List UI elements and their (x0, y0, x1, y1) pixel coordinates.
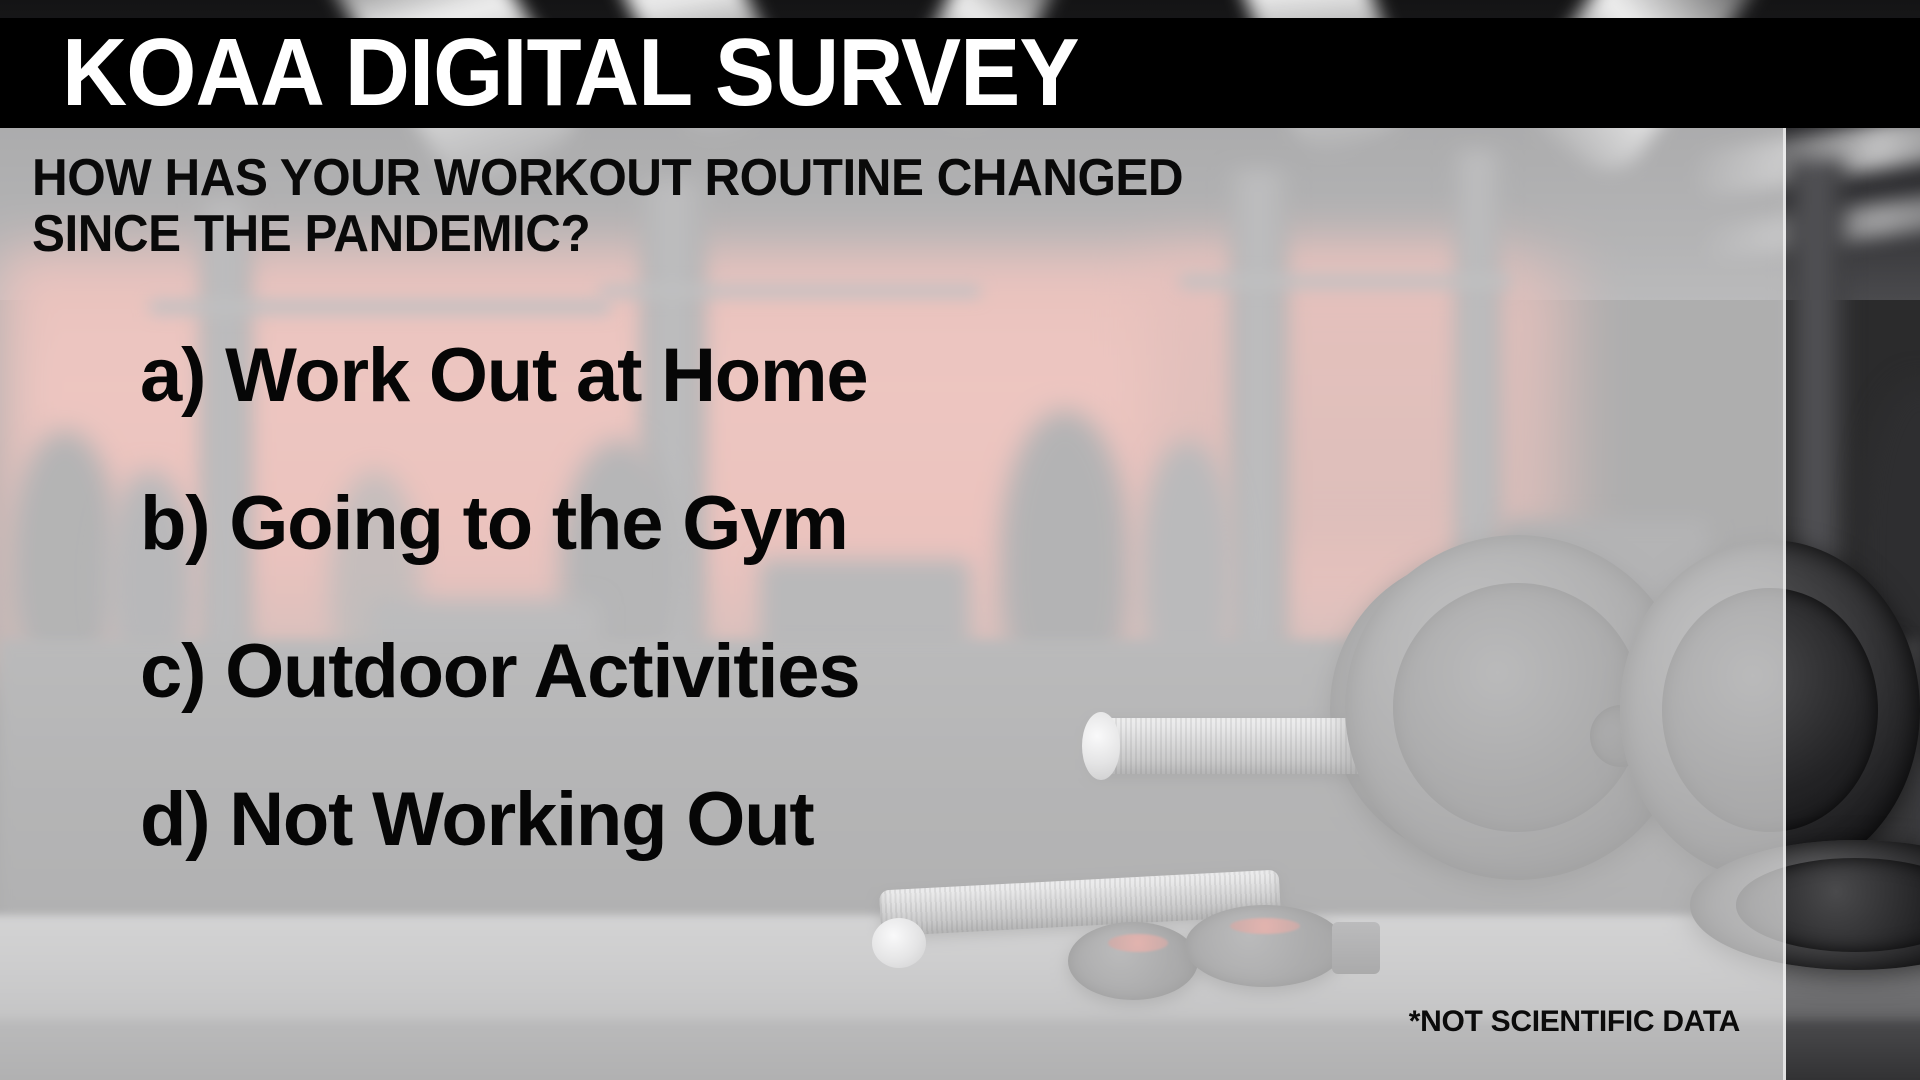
disclaimer-note: *NOT SCIENTIFIC DATA (1409, 1005, 1740, 1039)
answer-option-b[interactable]: b) Going to the Gym (140, 486, 1440, 562)
question-line-1: HOW HAS YOUR WORKOUT ROUTINE CHANGED (32, 150, 1438, 206)
second-bar-end-cap (872, 918, 926, 968)
rack-crossbar (150, 300, 610, 314)
rack-crossbar (600, 285, 980, 297)
page-title: KOAA DIGITAL SURVEY (62, 27, 1079, 119)
weight-plate-far-right (1620, 540, 1920, 880)
overlay-right-edge (1783, 128, 1786, 1080)
red-plate-accent (1108, 934, 1168, 952)
rack-crossbar (1180, 275, 1510, 288)
answer-option-a[interactable]: a) Work Out at Home (140, 338, 1440, 414)
answer-option-c[interactable]: c) Outdoor Activities (140, 634, 1440, 710)
question-line-2: SINCE THE PANDEMIC? (32, 206, 1438, 262)
answer-options-list: a) Work Out at Home b) Going to the Gym … (140, 338, 1440, 858)
red-plate-accent (1230, 918, 1300, 934)
survey-question: HOW HAS YOUR WORKOUT ROUTINE CHANGED SIN… (32, 150, 1438, 262)
plate-collar (1332, 922, 1380, 974)
title-bar: KOAA DIGITAL SURVEY (0, 18, 1920, 128)
survey-graphic: KOAA DIGITAL SURVEY HOW HAS YOUR WORKOUT… (0, 0, 1920, 1080)
answer-option-d[interactable]: d) Not Working Out (140, 782, 1440, 858)
